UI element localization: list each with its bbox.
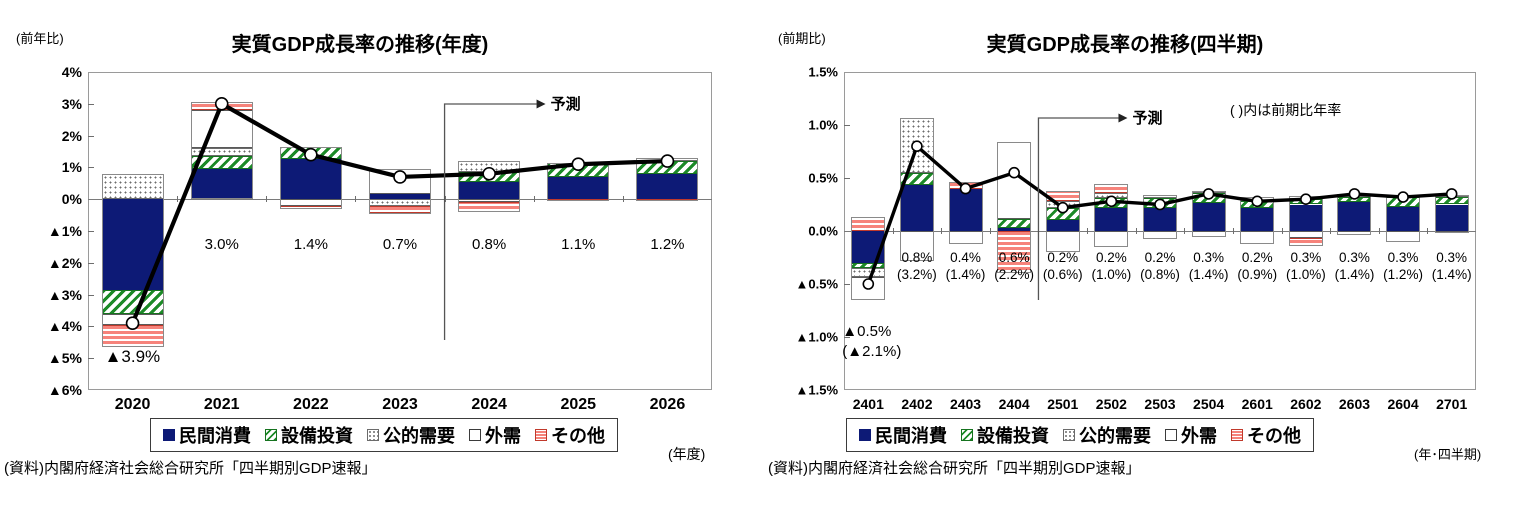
legend-label: 公的需要 [383,422,455,448]
figure-page: 実質GDP成長率の推移(年度) (前年比) 4%3%2%1%0%▲1%▲2%▲3… [0,0,1520,512]
legend-item-pink: その他 [535,422,605,448]
legend-label: 外需 [1181,422,1217,448]
annual-chart-panel: 実質GDP成長率の推移(年度) (前年比) 4%3%2%1%0%▲1%▲2%▲3… [0,0,760,512]
quarterly-neg-annualized: (▲2.1%) [842,342,901,362]
legend-label: 外需 [485,422,521,448]
quarterly-chart-panel: 実質GDP成長率の推移(四半期) (前期比) 1.5%1.0%0.5%0.0%▲… [760,0,1520,512]
annual-legend: 民間消費設備投資公的需要外需その他 [150,418,618,452]
forecast-divider-line [1038,118,1118,300]
legend-swatch-white-icon [1165,429,1177,441]
legend-swatch-dot-icon [367,429,379,441]
legend-label: 民間消費 [875,422,947,448]
legend-swatch-pink-icon [535,429,547,441]
legend-item-green: 設備投資 [961,422,1049,448]
quarterly-legend: 民間消費設備投資公的需要外需その他 [846,418,1314,452]
legend-label: 設備投資 [977,422,1049,448]
annual-negative-annotation: ▲3.9% [105,346,161,369]
legend-swatch-dot-icon [1063,429,1075,441]
legend-item-navy: 民間消費 [163,422,251,448]
quarterly-forecast-label: 予測 [1132,107,1162,128]
legend-item-dot: 公的需要 [1063,422,1151,448]
legend-item-green: 設備投資 [265,422,353,448]
legend-item-white: 外需 [1165,422,1217,448]
legend-label: 民間消費 [179,422,251,448]
legend-label: その他 [551,422,605,448]
forecast-arrow-head [537,100,546,109]
legend-item-navy: 民間消費 [859,422,947,448]
legend-swatch-white-icon [469,429,481,441]
legend-item-white: 外需 [469,422,521,448]
legend-item-pink: その他 [1231,422,1301,448]
annual-source-note: (資料)内閣府経済社会総合研究所「四半期別GDP速報」 [4,457,377,478]
quarterly-annualized-note: ( )内は前期比年率 [1230,100,1341,120]
quarterly-x-axis-unit: (年･四半期) [1414,444,1481,463]
legend-swatch-pink-icon [1231,429,1243,441]
legend-swatch-navy-icon [859,429,871,441]
legend-label: その他 [1247,422,1301,448]
quarterly-neg-qoq: ▲0.5% [842,322,901,342]
legend-item-dot: 公的需要 [367,422,455,448]
quarterly-negative-annotation: ▲0.5% (▲2.1%) [842,322,901,363]
legend-swatch-green-icon [961,429,973,441]
quarterly-source-note: (資料)内閣府経済社会総合研究所「四半期別GDP速報」 [768,457,1141,478]
legend-label: 公的需要 [1079,422,1151,448]
legend-swatch-navy-icon [163,429,175,441]
annual-forecast-label: 予測 [551,93,581,114]
forecast-arrow-head [1118,114,1127,123]
legend-label: 設備投資 [281,422,353,448]
annual-x-axis-unit: (年度) [668,444,705,464]
forecast-divider-line [445,104,537,340]
legend-swatch-green-icon [265,429,277,441]
